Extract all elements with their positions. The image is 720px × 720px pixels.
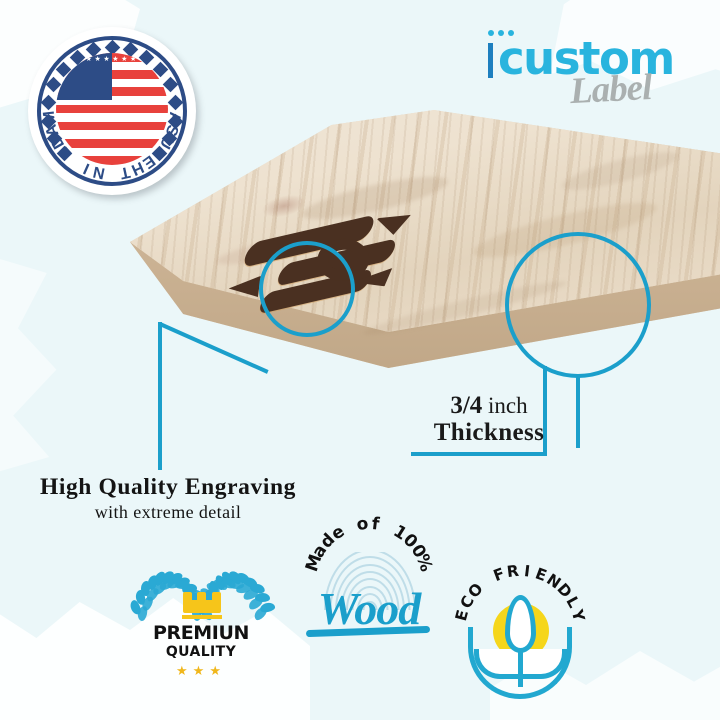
thickness-label: Thickness xyxy=(414,419,564,446)
wood-grain xyxy=(299,168,451,227)
made-of-wood-badge: Made of 100% Wood xyxy=(288,520,450,645)
callout-text-thickness: 3/4 inch Thickness xyxy=(414,392,564,446)
vertical-bar-icon xyxy=(488,43,493,78)
premium-title: PREMIUN xyxy=(133,622,269,644)
thickness-bracket-horizontal xyxy=(411,452,547,456)
brand-logo[interactable]: custom Label xyxy=(484,24,694,106)
infographic-canvas: High Quality Engraving with extreme deta… xyxy=(0,0,720,720)
callout-ring-engraving xyxy=(259,241,355,337)
callout-leader-thickness xyxy=(576,376,580,448)
callout-text-engraving: High Quality Engraving with extreme deta… xyxy=(8,474,328,523)
callout-leader-engraving-vertical xyxy=(158,322,162,470)
eco-friendly-badge: ECO FRIENDLY xyxy=(450,565,590,700)
thickness-value: 3/4 xyxy=(450,392,482,419)
callout-leader-engraving-diagonal xyxy=(159,322,268,374)
thickness-unit: inch xyxy=(488,393,528,418)
wood-knot xyxy=(260,191,307,220)
made-in-usa-arc-text: MADE IN THE USA xyxy=(28,27,196,195)
eco-friendly-arc-text: ECO FRIENDLY xyxy=(450,565,590,665)
wood-grain xyxy=(559,145,681,197)
made-in-usa-badge: ★★★★★★★★★★★★★★★★★★★★★★★★★★★★ MADE IN THE… xyxy=(28,27,196,195)
thickness-measure-line: 3/4 inch xyxy=(414,392,564,419)
premium-quality-badge: PREMIUN QUALITY ★★★ xyxy=(133,570,269,700)
premium-subtitle: QUALITY xyxy=(133,644,269,660)
callout-ring-thickness xyxy=(505,232,651,378)
premium-stars: ★★★ xyxy=(133,664,269,679)
engraving-headline: High Quality Engraving xyxy=(8,474,328,501)
brush-texture-mid-left xyxy=(0,250,90,480)
crown-icon xyxy=(183,592,221,616)
brand-sub-name: Label xyxy=(569,66,652,113)
engraving-subline: with extreme detail xyxy=(8,502,328,523)
